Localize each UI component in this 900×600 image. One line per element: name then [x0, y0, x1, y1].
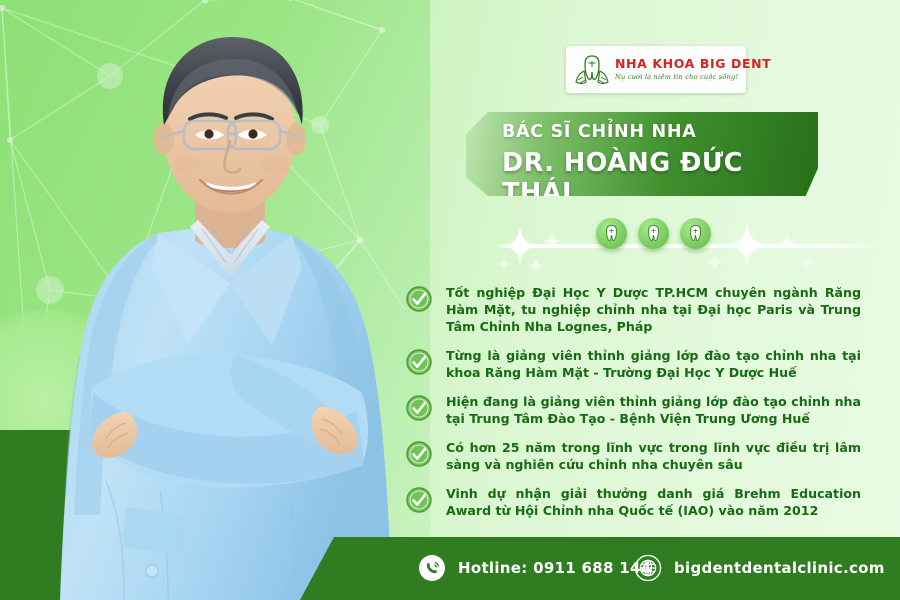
sparkle-icon: [490, 222, 580, 270]
title-banner: BÁC SĨ CHỈNH NHA DR. HOÀNG ĐỨC THÁI: [466, 112, 818, 196]
tooth-with-hands-icon: [574, 51, 610, 89]
check-circle-icon: [406, 441, 432, 467]
banner-subtitle: BÁC SĨ CHỈNH NHA: [502, 122, 818, 142]
tooth-icon: [687, 224, 704, 243]
credential-text: Từng là giảng viên thỉnh giảng lớp đào t…: [446, 347, 861, 381]
credential-text: Hiện đang là giảng viên thỉnh giảng lớp …: [446, 393, 861, 427]
globe-icon: [634, 554, 662, 582]
list-item: Vinh dự nhận giải thưởng danh giá Brehm …: [406, 485, 861, 519]
hotline-contact[interactable]: Hotline: 0911 688 144: [418, 554, 652, 582]
tooth-icon-badge-2: [638, 218, 669, 249]
check-circle-icon: [406, 395, 432, 421]
website-contact[interactable]: bigdentdentalclinic.com: [634, 554, 885, 582]
website-label: bigdentdentalclinic.com: [674, 559, 885, 577]
hotline-label: Hotline: 0911 688 144: [458, 559, 652, 577]
check-circle-icon: [406, 349, 432, 375]
banner-canvas: NHA KHOA BIG DENT Nụ cười là niềm tin ch…: [0, 0, 900, 600]
tooth-icon-badge-1: [596, 218, 627, 249]
sparkle-icon: [695, 220, 815, 270]
credential-text: Có hơn 25 năm trong lĩnh vực trong lĩnh …: [446, 439, 861, 473]
credentials-list: Tốt nghiệp Đại Học Y Dược TP.HCM chuyên …: [406, 284, 861, 531]
list-item: Tốt nghiệp Đại Học Y Dược TP.HCM chuyên …: [406, 284, 861, 335]
tooth-icon: [645, 224, 662, 243]
clinic-logo-slogan: Nụ cười là niềm tin cho cuộc sống!: [615, 74, 771, 81]
contact-footer-bar: Hotline: 0911 688 144 bigdentdentalclini…: [300, 537, 900, 600]
clinic-logo[interactable]: NHA KHOA BIG DENT Nụ cười là niềm tin ch…: [566, 46, 746, 93]
check-circle-icon: [406, 487, 432, 513]
doctor-portrait: [40, 15, 420, 600]
credential-text: Vinh dự nhận giải thưởng danh giá Brehm …: [446, 485, 861, 519]
tooth-icon: [603, 224, 620, 243]
phone-ring-icon: [418, 554, 446, 582]
list-item: Có hơn 25 năm trong lĩnh vực trong lĩnh …: [406, 439, 861, 473]
credential-text: Tốt nghiệp Đại Học Y Dược TP.HCM chuyên …: [446, 284, 861, 335]
check-circle-icon: [406, 286, 432, 312]
list-item: Từng là giảng viên thỉnh giảng lớp đào t…: [406, 347, 861, 381]
clinic-logo-name: NHA KHOA BIG DENT: [615, 58, 771, 71]
tooth-icon-badge-3: [680, 218, 711, 249]
tooth-divider: [490, 218, 880, 274]
list-item: Hiện đang là giảng viên thỉnh giảng lớp …: [406, 393, 861, 427]
